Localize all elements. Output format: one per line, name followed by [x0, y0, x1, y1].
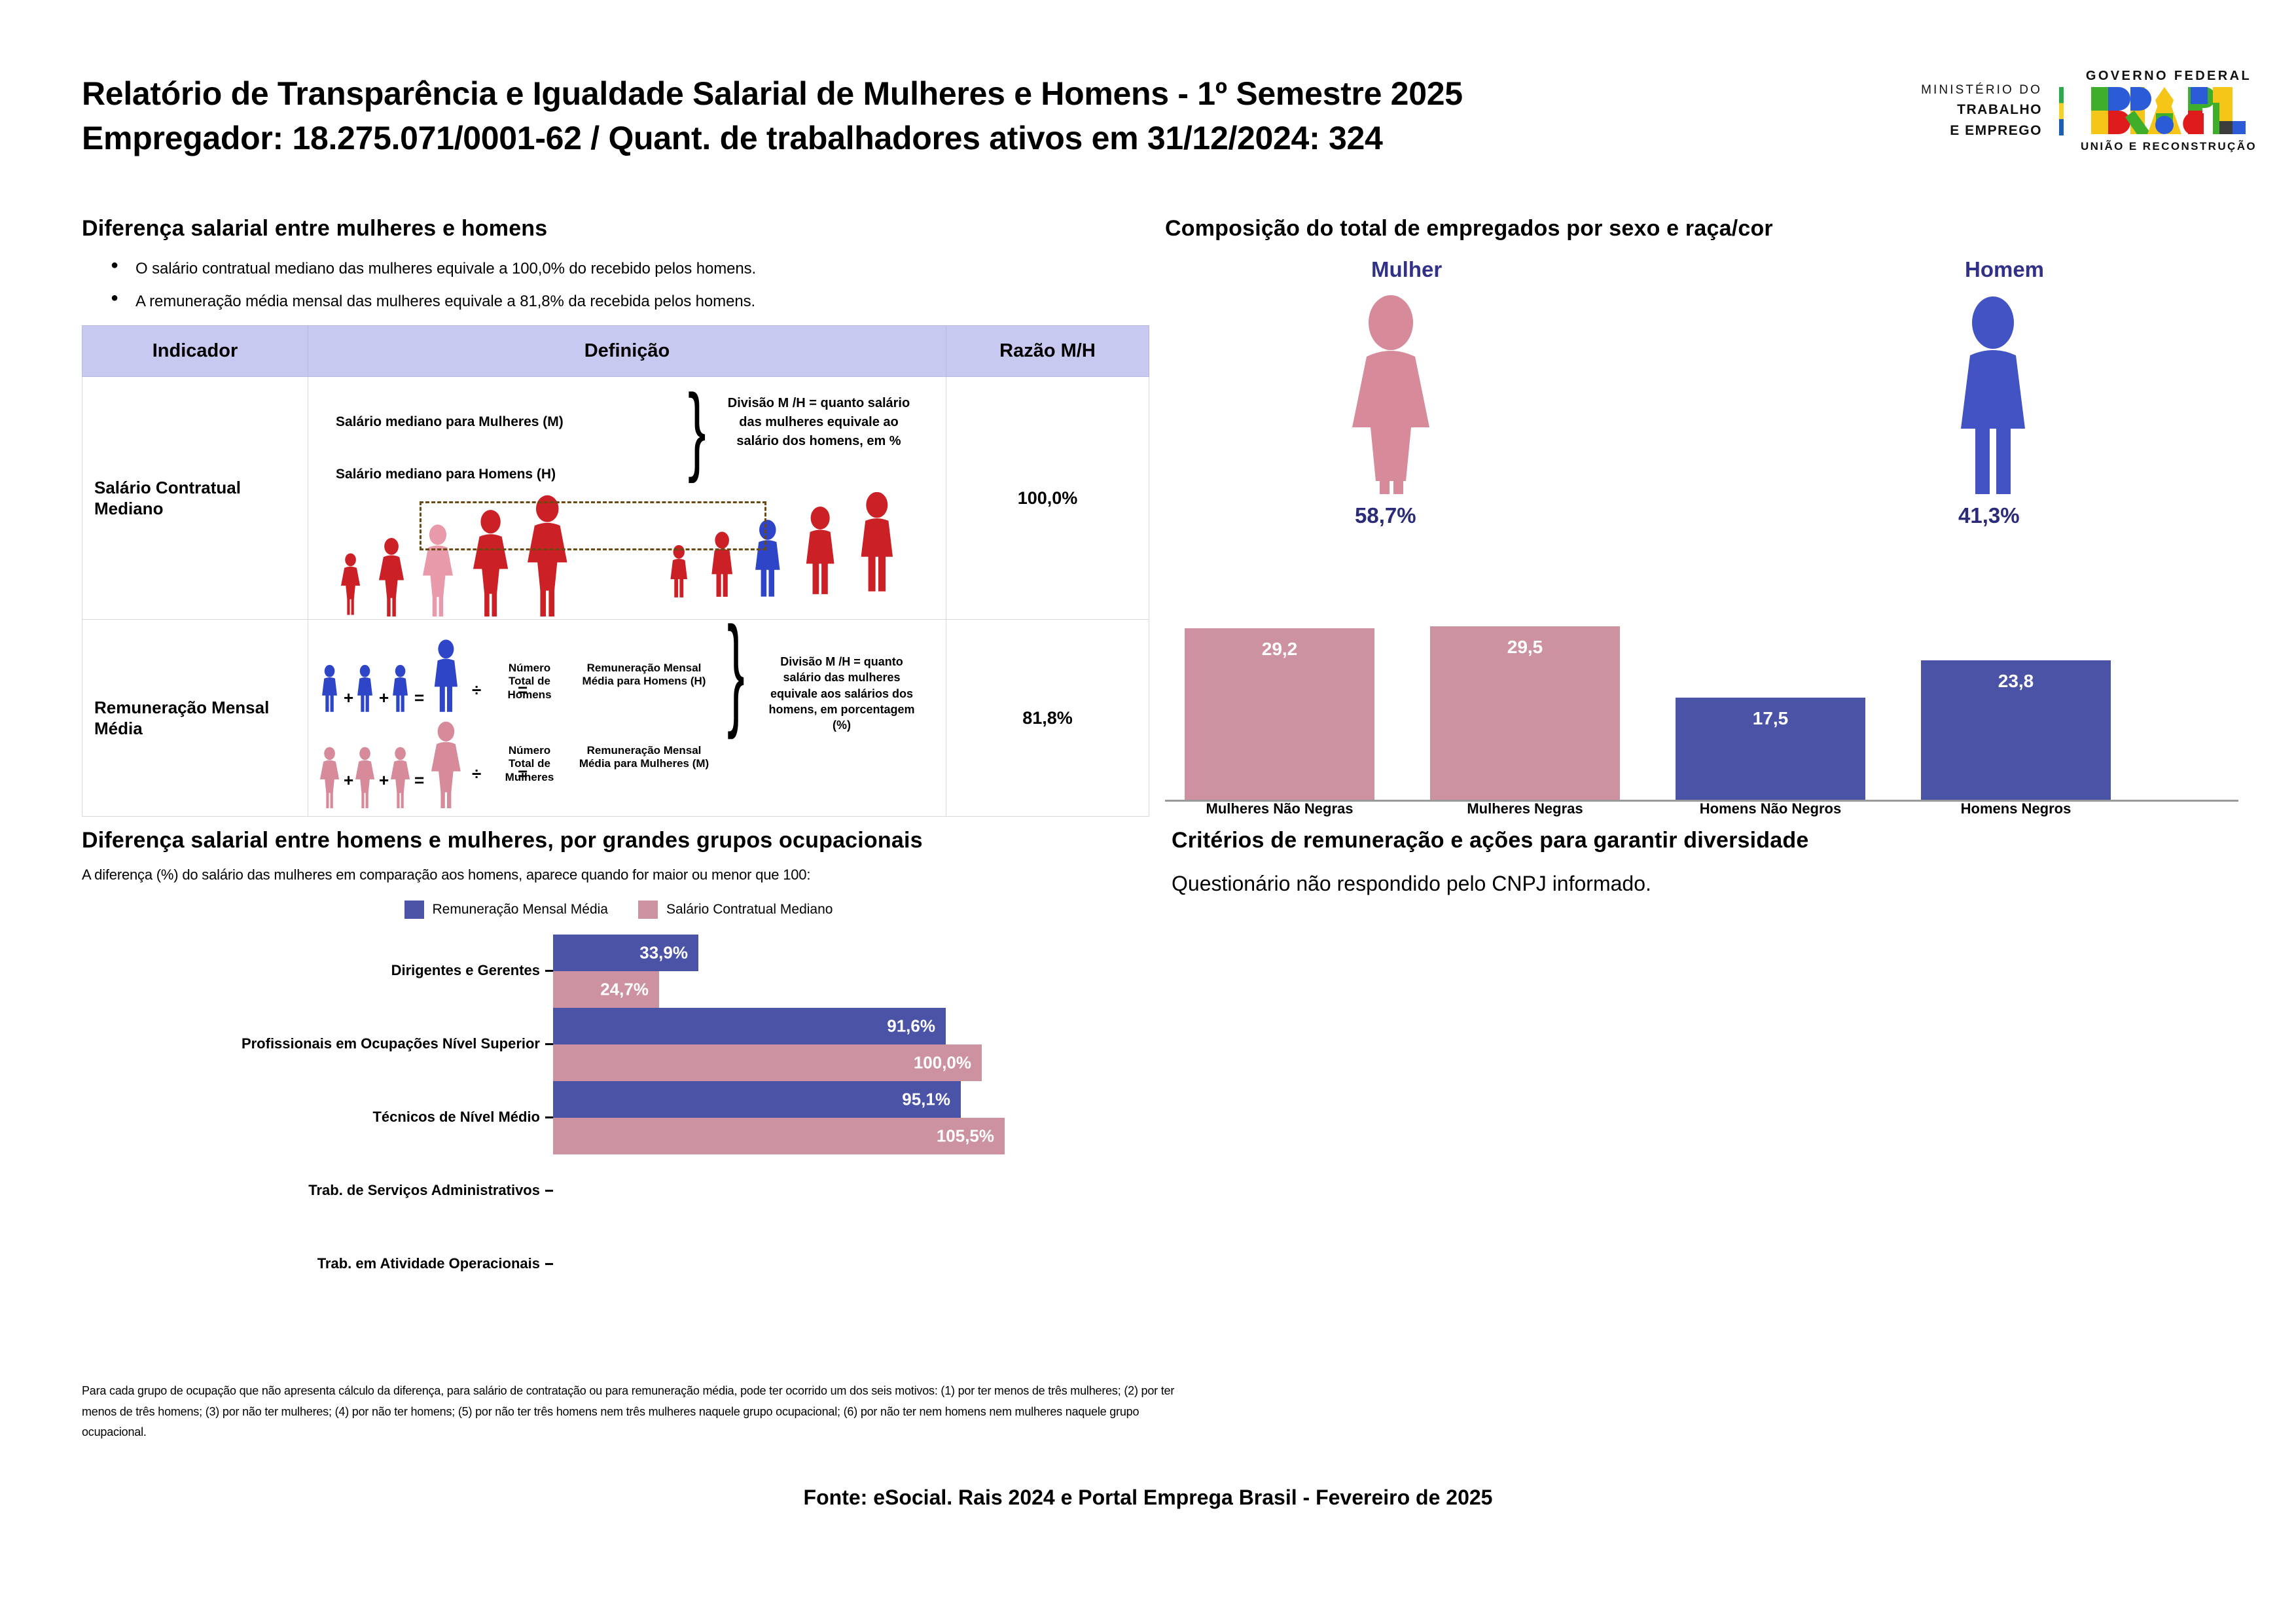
occ-category-label: Técnicos de Nível Médio [167, 1109, 540, 1126]
median-people-illustration [328, 492, 930, 616]
legend-swatch-remuneracao [404, 901, 424, 919]
header-definicao: Definição [308, 326, 946, 377]
row2-indicator-label: Remuneração Mensal Média [82, 697, 308, 740]
report-header: Relatório de Transparência e Igualdade S… [82, 72, 1980, 160]
axis-tick [545, 970, 553, 972]
occupational-heading: Diferença salarial entre homens e mulher… [82, 828, 1155, 853]
axis-tick [545, 1263, 553, 1265]
row2-ratio-value: 81,8% [946, 708, 1149, 728]
svg-text:+: + [379, 770, 389, 790]
axis-tick [545, 1190, 553, 1192]
criteria-body-text: Questionário não respondido pelo CNPJ in… [1172, 872, 2153, 896]
race-category-label: Homens Não Negros [1676, 800, 1865, 817]
row1-definition-cell: Salário mediano para Mulheres (M) Salári… [308, 377, 946, 620]
svg-text:=: = [414, 770, 424, 790]
occ-bar-value: 100,0% [914, 1053, 971, 1073]
source-line: Fonte: eSocial. Rais 2024 e Portal Empre… [0, 1486, 2296, 1510]
composition-section: Composição do total de empregados por se… [1165, 216, 2251, 802]
table-row: Salário Contratual Mediano Salário media… [82, 377, 1149, 620]
men-total-label: Número Total de Homens [497, 662, 562, 702]
right-section-heading: Composição do total de empregados por se… [1165, 216, 2251, 241]
race-bar-value: 17,5 [1676, 708, 1865, 729]
axis-tick [545, 1116, 553, 1118]
row1-indicator-cell: Salário Contratual Mediano [82, 377, 308, 620]
ministry-of-labor-logo: MINISTÉRIO DO TRABALHO E EMPREGO [1921, 81, 2042, 141]
race-bar-value: 23,8 [1921, 671, 2111, 692]
legend-item: Remuneração Mensal Média [404, 901, 608, 919]
ministry-line-3: E EMPREGO [1921, 120, 2042, 141]
median-highlight-box [420, 501, 766, 550]
row2-indicator-cell: Remuneração Mensal Média [82, 620, 308, 817]
man-percentage: 41,3% [1958, 503, 2020, 528]
legend-label: Salário Contratual Mediano [666, 902, 833, 918]
gender-composition-figures: Mulher Homem 58,7% [1165, 248, 2251, 595]
occ-bar-salario: 105,5% [553, 1118, 1005, 1154]
header-razao: Razão M/H [946, 326, 1149, 377]
government-logos: MINISTÉRIO DO TRABALHO E EMPREGO GOVERNO… [1921, 69, 2257, 153]
occupational-legend: Remuneração Mensal Média Salário Contrat… [82, 901, 1155, 919]
median-men-label: Salário mediano para Homens (H) [336, 466, 556, 482]
race-category-label: Mulheres Negras [1430, 800, 1620, 817]
occupational-groups-section: Diferença salarial entre homens e mulher… [82, 828, 1155, 1260]
bullet-item: A remuneração média mensal das mulheres … [107, 293, 1149, 311]
occ-category-label: Dirigentes e Gerentes [167, 962, 540, 979]
race-category-label: Mulheres Não Negras [1185, 800, 1374, 817]
svg-text:÷: ÷ [472, 764, 481, 783]
legend-swatch-salario [638, 901, 658, 919]
occ-bar-remuneracao: 95,1% [553, 1081, 961, 1118]
occ-category-label: Profissionais em Ocupações Nível Superio… [88, 1035, 540, 1052]
report-title-line-1: Relatório de Transparência e Igualdade S… [82, 72, 1980, 116]
legend-label: Remuneração Mensal Média [433, 902, 608, 918]
occ-bar-value: 95,1% [902, 1090, 950, 1110]
row1-ratio-value: 100,0% [946, 488, 1149, 508]
median-women-label: Salário mediano para Mulheres (M) [336, 414, 564, 430]
occ-bar-salario: 24,7% [553, 971, 659, 1008]
svg-text:+: + [379, 688, 389, 707]
indicators-table: Indicador Definição Razão M/H Salário Co… [82, 325, 1149, 817]
woman-figure-icon [1342, 295, 1440, 501]
header-indicador: Indicador [82, 326, 308, 377]
summary-bullet-list: O salário contratual mediano das mulhere… [107, 260, 1149, 311]
legend-item: Salário Contratual Mediano [638, 901, 833, 919]
report-title-line-2: Empregador: 18.275.071/0001-62 / Quant. … [82, 116, 1980, 161]
occ-bar-remuneracao: 91,6% [553, 1008, 946, 1044]
occupational-bar-chart: Dirigentes e Gerentes 33,9% 24,7% Profis… [82, 933, 1155, 1260]
brace-icon: } [688, 387, 706, 471]
occ-bar-value: 105,5% [937, 1126, 994, 1147]
man-label: Homem [1965, 257, 2044, 282]
occ-category-label: Trab. de Serviços Administrativos [167, 1182, 540, 1199]
woman-percentage: 58,7% [1355, 503, 1416, 528]
svg-text:=: = [414, 688, 424, 707]
occ-category-label: Trab. em Atividade Operacionais [167, 1255, 540, 1272]
criteria-heading: Critérios de remuneração e ações para ga… [1172, 828, 2153, 853]
race-bar: 23,8 [1921, 660, 2111, 802]
uniao-reconstrucao-label: UNIÃO E RECONSTRUÇÃO [2081, 140, 2257, 153]
occupational-subtitle: A diferença (%) do salário das mulheres … [82, 866, 1155, 883]
ministry-line-1: MINISTÉRIO DO [1921, 81, 2042, 100]
svg-text:+: + [344, 688, 353, 707]
report-page: Relatório de Transparência e Igualdade S… [0, 0, 2296, 1623]
left-section-heading: Diferença salarial entre mulheres e home… [82, 216, 1149, 241]
brazil-flag-bar-icon [2059, 87, 2064, 135]
occ-bar-remuneracao: 33,9% [553, 935, 698, 971]
table-header-row: Indicador Definição Razão M/H [82, 326, 1149, 377]
race-composition-chart: 29,2 29,5 17,5 23,8 Mulheres Não Negras … [1165, 599, 2238, 802]
woman-label: Mulher [1371, 257, 1442, 282]
women-total-label: Número Total de Mulheres [497, 744, 562, 784]
footnote-text: Para cada grupo de ocupação que não apre… [82, 1381, 1181, 1443]
brace-icon: } [727, 621, 745, 721]
race-bar: 17,5 [1676, 698, 1865, 802]
row1-indicator-label: Salário Contratual Mediano [82, 477, 308, 520]
brasil-wordmark-icon [2081, 87, 2257, 137]
occ-bar-value: 24,7% [600, 980, 649, 1000]
row2-definition-cell: ++= ÷= [308, 620, 946, 817]
governo-federal-label: GOVERNO FEDERAL [2081, 69, 2257, 84]
svg-text:÷: ÷ [472, 680, 481, 700]
row1-brace-note: Divisão M /H = quanto salário das mulher… [721, 394, 917, 451]
men-result-label: Remuneração Mensal Média para Homens (H) [575, 662, 713, 688]
salary-difference-section: Diferença salarial entre mulheres e home… [82, 216, 1149, 817]
row2-brace-note: Divisão M /H = quanto salário das mulher… [766, 654, 917, 733]
race-bar-value: 29,5 [1430, 637, 1620, 658]
svg-text:+: + [344, 770, 353, 790]
women-result-label: Remuneração Mensal Média para Mulheres (… [575, 744, 713, 771]
ministry-line-2: TRABALHO [1921, 99, 2042, 120]
bullet-item: O salário contratual mediano das mulhere… [107, 260, 1149, 278]
occ-bar-value: 33,9% [639, 943, 688, 963]
axis-tick [545, 1043, 553, 1045]
race-bar-value: 29,2 [1185, 639, 1374, 660]
race-bar: 29,5 [1430, 626, 1620, 802]
occ-bar-value: 91,6% [887, 1016, 935, 1037]
criteria-section: Critérios de remuneração e ações para ga… [1172, 828, 2153, 896]
table-row: Remuneração Mensal Média [82, 620, 1149, 817]
race-bar: 29,2 [1185, 628, 1374, 802]
row1-ratio-cell: 100,0% [946, 377, 1149, 620]
governo-federal-logo: GOVERNO FEDERAL [2081, 69, 2257, 153]
occ-bar-salario: 100,0% [553, 1044, 982, 1081]
row2-ratio-cell: 81,8% [946, 620, 1149, 817]
race-category-label: Homens Negros [1921, 800, 2111, 817]
man-figure-icon [1944, 295, 2042, 501]
